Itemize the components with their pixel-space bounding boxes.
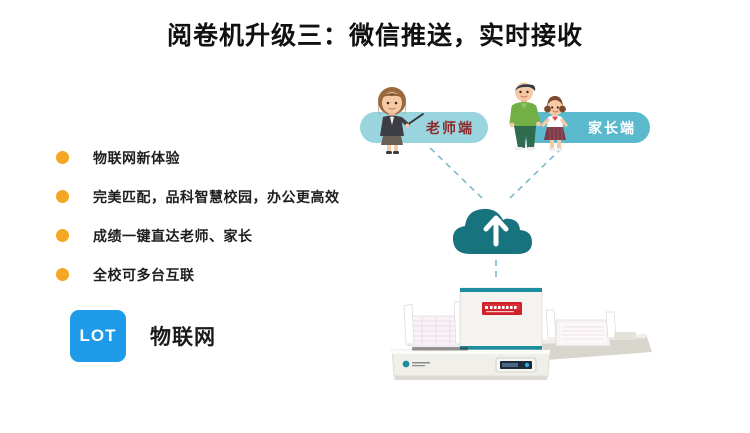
bullet-label: 成绩一键直达老师、家长 bbox=[93, 226, 253, 246]
iot-label: 物联网 bbox=[150, 321, 216, 351]
bullet-dot-icon bbox=[56, 151, 69, 164]
iot-badge: LOT bbox=[70, 310, 126, 362]
exam-scanner-machine bbox=[378, 276, 658, 386]
page-title: 阅卷机升级三：微信推送，实时接收 bbox=[0, 16, 750, 52]
feature-bullet-list: 物联网新体验 完美匹配，品科智慧校园，办公更高效 成绩一键直达老师、家长 全校可… bbox=[56, 138, 376, 294]
push-flow-diagram: 老师端 家长端 bbox=[350, 70, 690, 410]
cloud-upload-icon bbox=[448, 198, 544, 260]
endpoint-pill-teacher-label: 老师端 bbox=[426, 118, 474, 138]
list-item: 成绩一键直达老师、家长 bbox=[56, 216, 376, 255]
list-item: 全校可多台互联 bbox=[56, 255, 376, 294]
bullet-dot-icon bbox=[56, 229, 69, 242]
iot-badge-group: LOT 物联网 bbox=[70, 310, 216, 362]
connector-cloud-to-teacher bbox=[428, 146, 482, 198]
bullet-label: 全校可多台互联 bbox=[93, 265, 195, 285]
bullet-dot-icon bbox=[56, 190, 69, 203]
bullet-label: 完美匹配，品科智慧校园，办公更高效 bbox=[93, 187, 340, 207]
parent-and-child-figure-icon bbox=[502, 80, 574, 156]
bullet-dot-icon bbox=[56, 268, 69, 281]
list-item: 完美匹配，品科智慧校园，办公更高效 bbox=[56, 177, 376, 216]
list-item: 物联网新体验 bbox=[56, 138, 376, 177]
teacher-figure-icon bbox=[366, 84, 424, 154]
endpoint-pill-parent-label: 家长端 bbox=[588, 118, 636, 138]
bullet-label: 物联网新体验 bbox=[93, 148, 180, 168]
